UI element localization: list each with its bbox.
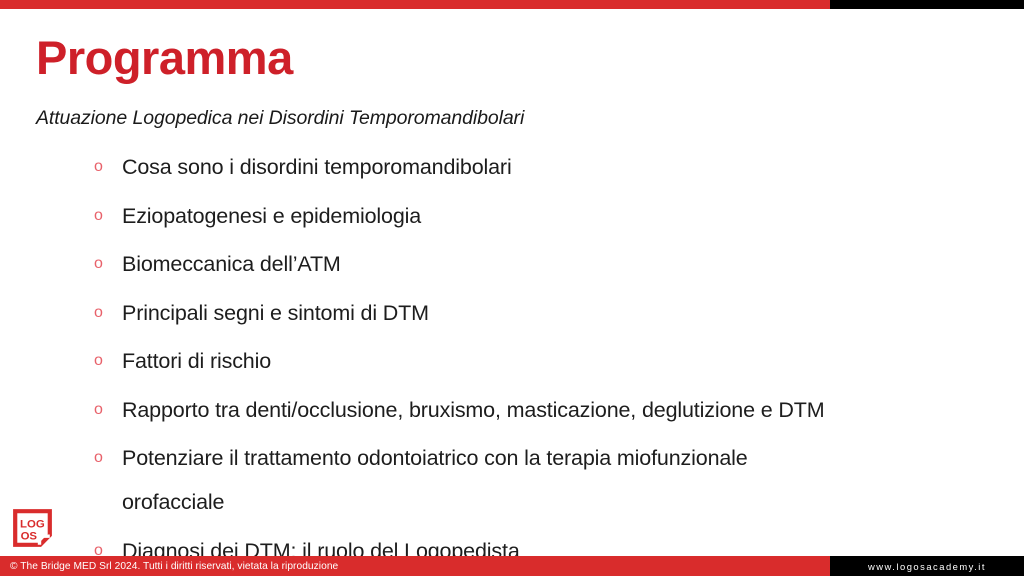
circle-bullet-icon: o xyxy=(88,395,122,425)
list-item-label: Biomeccanica dell’ATM xyxy=(122,249,1014,279)
circle-bullet-icon: o xyxy=(88,201,122,231)
list-item-label: Potenziare il trattamento odontoiatrico … xyxy=(122,443,1014,517)
footer-copyright: © The Bridge MED Srl 2024. Tutti i dirit… xyxy=(0,561,338,572)
footer-red-segment: © The Bridge MED Srl 2024. Tutti i dirit… xyxy=(0,556,830,576)
list-item-label: Rapporto tra denti/occlusione, bruxismo,… xyxy=(122,395,1014,425)
top-bar-red-segment xyxy=(0,0,830,9)
list-item: o Principali segni e sintomi di DTM xyxy=(88,298,1014,328)
list-item-label: Fattori di rischio xyxy=(122,346,1014,376)
footer-website-url: www.logosacademy.it xyxy=(868,561,986,572)
list-item: o Eziopatogenesi e epidemiologia xyxy=(88,201,1014,231)
agenda-list: o Cosa sono i disordini temporomandibola… xyxy=(88,152,1014,584)
circle-bullet-icon: o xyxy=(88,298,122,328)
list-item: o Rapporto tra denti/occlusione, bruxism… xyxy=(88,395,1014,425)
top-accent-bar xyxy=(0,0,1024,9)
logo-text-line2: OS xyxy=(21,530,38,542)
circle-bullet-icon: o xyxy=(88,346,122,376)
list-item: o Fattori di rischio xyxy=(88,346,1014,376)
logos-logo-icon: LOG OS xyxy=(13,509,52,547)
top-bar-black-segment xyxy=(830,0,1024,9)
list-item-label: Cosa sono i disordini temporomandibolari xyxy=(122,152,1014,182)
list-item: o Potenziare il trattamento odontoiatric… xyxy=(88,443,1014,517)
list-item-label-line2: orofacciale xyxy=(122,487,1014,517)
list-item: o Cosa sono i disordini temporomandibola… xyxy=(88,152,1014,182)
circle-bullet-icon: o xyxy=(88,152,122,182)
footer-black-segment: www.logosacademy.it xyxy=(830,556,1024,576)
page-subtitle: Attuazione Logopedica nei Disordini Temp… xyxy=(36,107,524,130)
circle-bullet-icon: o xyxy=(88,249,122,279)
logos-logo: LOG OS xyxy=(13,509,52,547)
list-item-label-line1: Potenziare il trattamento odontoiatrico … xyxy=(122,446,748,470)
logo-text-line1: LOG xyxy=(20,519,45,531)
list-item: o Biomeccanica dell’ATM xyxy=(88,249,1014,279)
page-title: Programma xyxy=(36,33,293,82)
footer-bar: © The Bridge MED Srl 2024. Tutti i dirit… xyxy=(0,556,1024,576)
list-item-label: Eziopatogenesi e epidemiologia xyxy=(122,201,1014,231)
circle-bullet-icon: o xyxy=(88,443,122,473)
list-item-label: Principali segni e sintomi di DTM xyxy=(122,298,1014,328)
slide: Programma Attuazione Logopedica nei Diso… xyxy=(0,0,1024,576)
